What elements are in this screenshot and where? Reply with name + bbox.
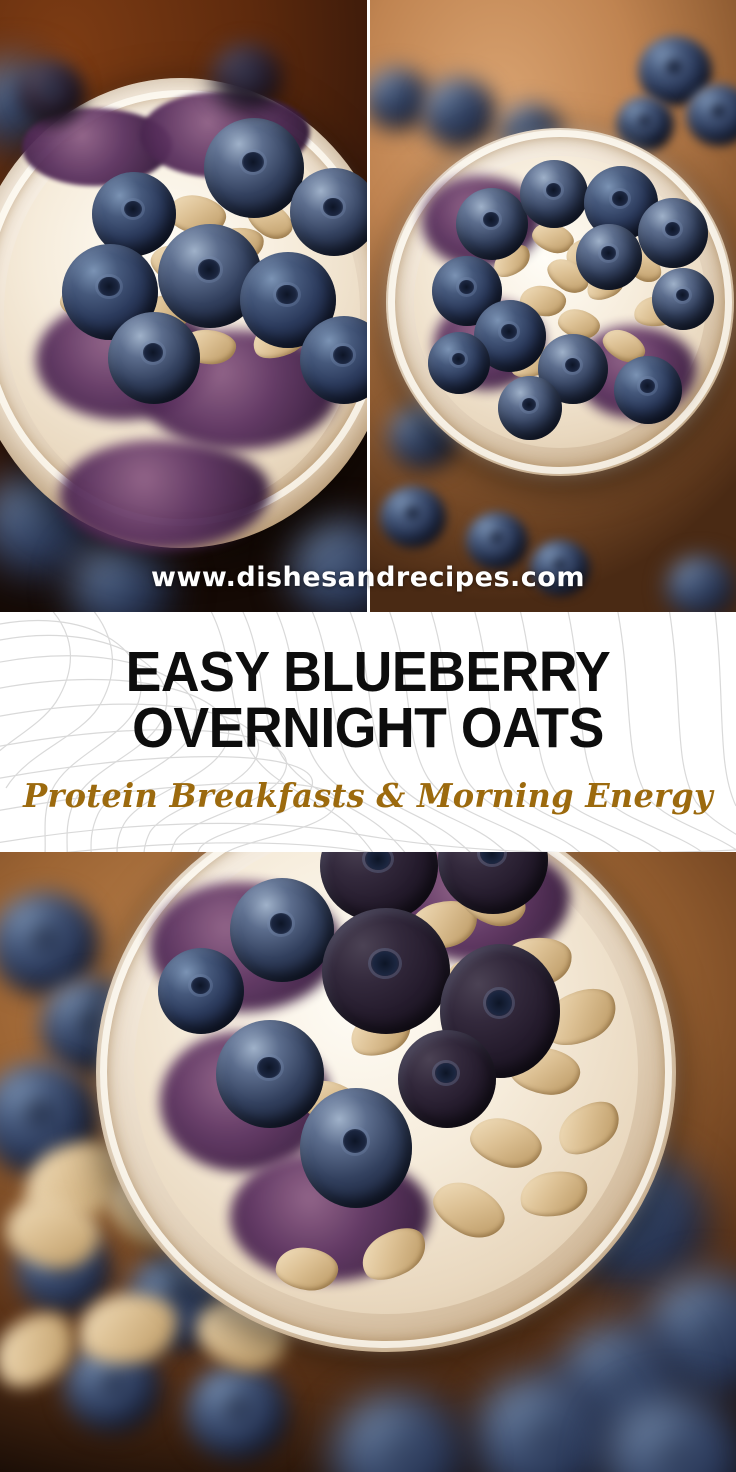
blueberry bbox=[212, 44, 282, 110]
blueberry bbox=[398, 1030, 496, 1128]
top-left-photo bbox=[0, 0, 367, 614]
blueberry bbox=[108, 312, 200, 404]
blueberry bbox=[422, 78, 496, 148]
blueberry bbox=[186, 1364, 290, 1462]
blueberry bbox=[520, 160, 588, 228]
blueberry bbox=[614, 356, 682, 424]
blueberry bbox=[576, 224, 642, 290]
blueberry bbox=[18, 62, 84, 124]
top-right-photo bbox=[370, 0, 736, 614]
blueberry bbox=[428, 332, 490, 394]
page-subtitle: Protein Breakfasts & Morning Energy bbox=[11, 776, 725, 815]
top-photo-row bbox=[0, 0, 736, 614]
blueberry bbox=[300, 1088, 412, 1208]
website-watermark: www.dishesandrecipes.com bbox=[0, 562, 736, 593]
blueberry bbox=[230, 878, 334, 982]
blueberry bbox=[652, 268, 714, 330]
bottom-photo bbox=[0, 852, 736, 1472]
title-line-2: OVERNIGHT OATS bbox=[22, 701, 714, 757]
blueberry bbox=[322, 908, 450, 1034]
page-title: EASY BLUEBERRY OVERNIGHT OATS bbox=[22, 645, 714, 757]
title-band-content: EASY BLUEBERRY OVERNIGHT OATS Protein Br… bbox=[0, 649, 736, 816]
blueberry bbox=[158, 948, 244, 1034]
blueberry bbox=[380, 486, 446, 548]
blueberry bbox=[456, 188, 528, 260]
pinterest-recipe-pin: www.dishesandrecipes.com bbox=[0, 0, 736, 1472]
title-band: EASY BLUEBERRY OVERNIGHT OATS Protein Br… bbox=[0, 612, 736, 852]
title-line-1: EASY BLUEBERRY bbox=[126, 640, 611, 704]
blueberry bbox=[216, 1020, 324, 1128]
blueberry bbox=[638, 198, 708, 268]
blueberry bbox=[204, 118, 304, 218]
blueberry bbox=[498, 376, 562, 440]
